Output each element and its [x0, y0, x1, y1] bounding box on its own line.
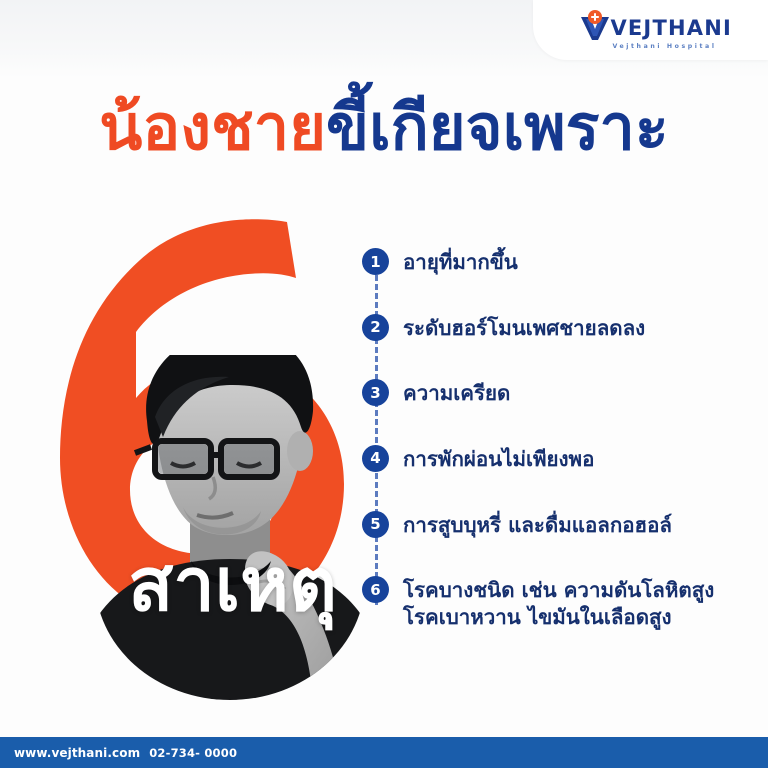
list-item-badge: 6 [362, 576, 389, 603]
vejthani-v-cross-icon [578, 10, 612, 42]
list-item[interactable]: 1 อายุที่มากขึ้น [362, 248, 762, 276]
infographic-canvas: VEJTHANI Vejthani Hospital น้องชายขี้เกี… [0, 0, 768, 768]
footer-phone[interactable]: 02-734- 0000 [149, 746, 237, 760]
brand-tagline: Vejthani Hospital [612, 43, 716, 50]
list-item[interactable]: 2 ระดับฮอร์โมนเพศชายลดลง [362, 314, 762, 342]
list-item-badge: 4 [362, 445, 389, 472]
footer-bar: www.vejthani.com 02-734- 0000 [0, 737, 768, 768]
hero-photo [95, 355, 365, 700]
list-item-label: ระดับฮอร์โมนเพศชายลดลง [403, 314, 645, 342]
page-title: น้องชายขี้เกียจเพราะ [0, 96, 768, 159]
list-item[interactable]: 6 โรคบางชนิด เช่น ความดันโลหิตสูงโรคเบาห… [362, 576, 762, 630]
list-item-label-multiline: โรคบางชนิด เช่น ความดันโลหิตสูงโรคเบาหวา… [403, 576, 714, 630]
list-item-badge: 1 [362, 248, 389, 275]
list-item-badge: 5 [362, 511, 389, 538]
title-part-orange: น้องชาย [99, 91, 326, 164]
list-item-label-line1: โรคบางชนิด เช่น ความดันโลหิตสูง [403, 578, 714, 602]
footer-website[interactable]: www.vejthani.com [14, 746, 140, 760]
list-item-label: การพักผ่อนไม่เพียงพอ [403, 445, 594, 473]
list-item-badge: 3 [362, 379, 389, 406]
logo-panel: VEJTHANI Vejthani Hospital [533, 0, 768, 60]
list-item-badge: 2 [362, 314, 389, 341]
list-item[interactable]: 3 ความเครียด [362, 379, 762, 407]
list-item-label: การสูบบุหรี่ และดื่มแอลกอฮอล์ [403, 511, 672, 539]
list-item[interactable]: 5 การสูบบุหรี่ และดื่มแอลกอฮอล์ [362, 511, 762, 539]
list-item[interactable]: 4 การพักผ่อนไม่เพียงพอ [362, 445, 762, 473]
title-part-blue: ขี้เกียจเพราะ [326, 91, 669, 164]
list-item-label: อายุที่มากขึ้น [403, 248, 518, 276]
list-item-label-line2: โรคเบาหวาน ไขมันในเลือดสูง [403, 604, 714, 631]
brand-wordmark: VEJTHANI [610, 18, 732, 39]
causes-list: 1 อายุที่มากขึ้น 2 ระดับฮอร์โมนเพศชายลดล… [362, 248, 762, 630]
brand-logo: VEJTHANI Vejthani Hospital [578, 10, 732, 50]
list-item-label: ความเครียด [403, 379, 510, 407]
hero-overlay-word: สาเหตุ [95, 548, 370, 622]
